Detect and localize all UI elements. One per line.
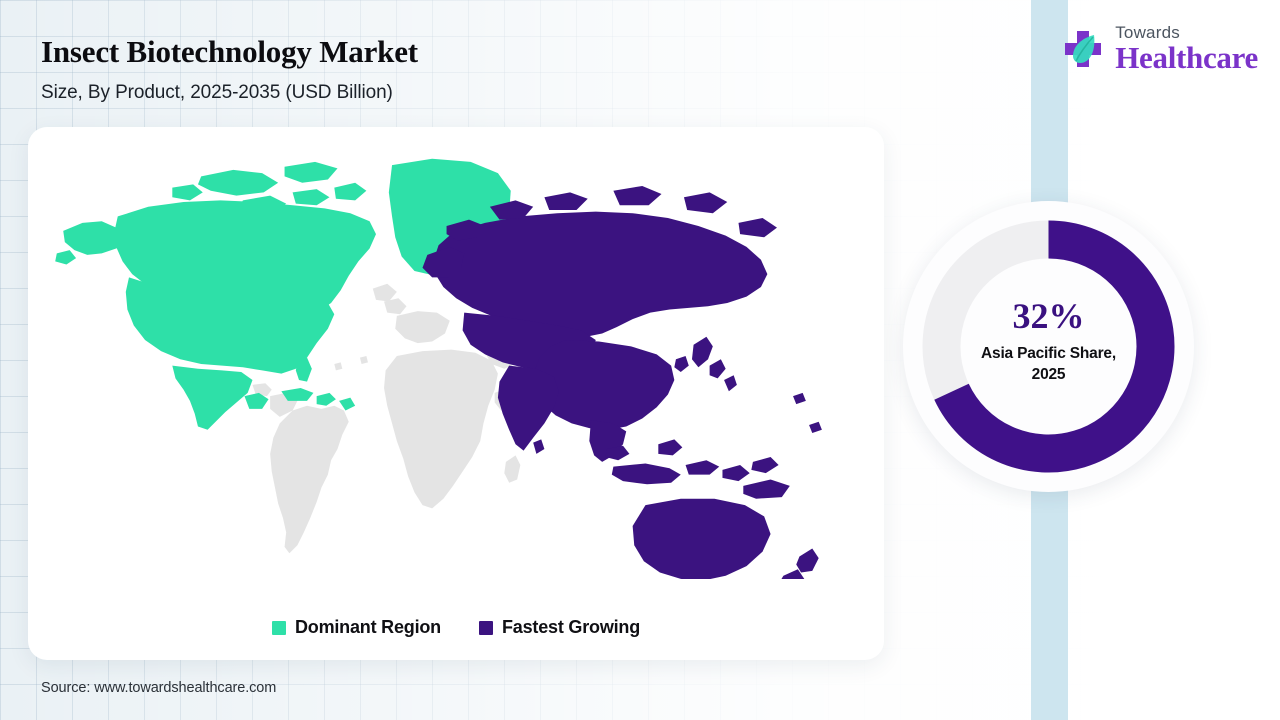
donut-percent: 32% — [903, 298, 1194, 334]
source-note: Source: www.towardshealthcare.com — [41, 680, 276, 696]
logo-wordmark: Towards Healthcare — [1115, 24, 1258, 73]
brand-logo[interactable]: Towards Healthcare — [1060, 24, 1258, 73]
page-subtitle: Size, By Product, 2025-2035 (USD Billion… — [41, 82, 418, 104]
header: Insect Biotechnology Market Size, By Pro… — [41, 34, 418, 104]
logo-line-healthcare: Healthcare — [1115, 42, 1258, 73]
legend-swatch-dominant — [272, 621, 286, 635]
map-legend: Dominant Region Fastest Growing — [28, 617, 884, 638]
legend-label-dominant: Dominant Region — [295, 617, 441, 638]
infographic-page: Insect Biotechnology Market Size, By Pro… — [0, 0, 1280, 720]
logo-line-towards: Towards — [1115, 24, 1258, 41]
donut-center-labels: 32% Asia Pacific Share, 2025 — [903, 298, 1194, 386]
donut-label-line2: 2025 — [1032, 366, 1066, 383]
world-map[interactable] — [52, 149, 862, 579]
donut-chart[interactable]: 32% Asia Pacific Share, 2025 — [903, 201, 1194, 492]
donut-label-line1: Asia Pacific Share, — [981, 345, 1116, 362]
page-title: Insect Biotechnology Market — [41, 34, 418, 70]
legend-swatch-fastest — [479, 621, 493, 635]
map-card: Dominant Region Fastest Growing — [28, 127, 884, 660]
legend-item-fastest[interactable]: Fastest Growing — [479, 617, 640, 638]
cross-leaf-icon — [1060, 26, 1106, 72]
legend-label-fastest: Fastest Growing — [502, 617, 640, 638]
donut-label: Asia Pacific Share, 2025 — [903, 344, 1194, 386]
legend-item-dominant[interactable]: Dominant Region — [272, 617, 441, 638]
